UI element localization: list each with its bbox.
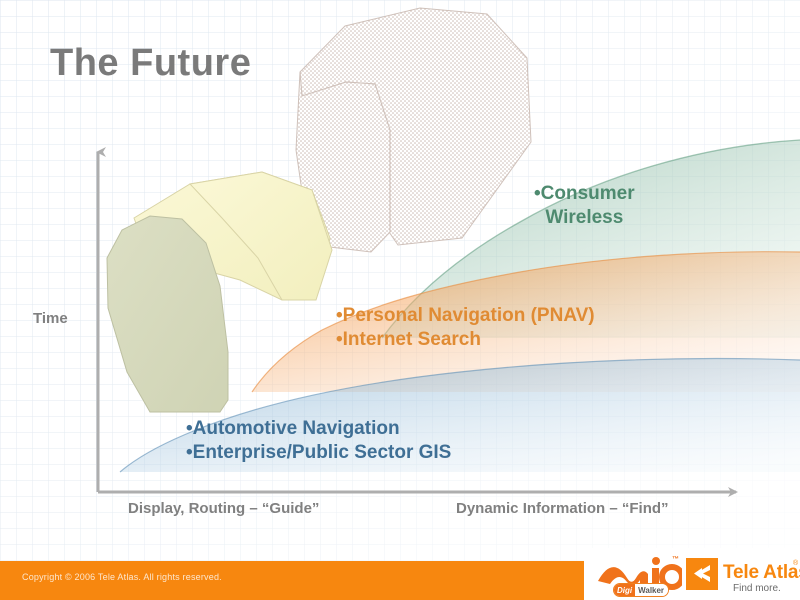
wave-label-pnav: •Personal Navigation (PNAV) •Internet Se… [336, 304, 595, 353]
yellow-polygon-body [190, 172, 332, 300]
wave-label-line: •Enterprise/Public Sector GIS [186, 441, 451, 465]
wave-label-consumer-wireless: •Consumer Wireless [534, 182, 635, 231]
background-grid [0, 0, 800, 600]
wave-label-line: •Consumer [534, 182, 635, 206]
yellow-polygon-shape [134, 172, 330, 300]
wave-label-automotive: •Automotive Navigation •Enterprise/Publi… [186, 417, 451, 466]
tele-atlas-tagline: Find more. [733, 583, 781, 594]
tele-atlas-trademark-icon: ® [793, 560, 798, 567]
slide-canvas: The Future Time Display, Routing – “Guid… [0, 0, 800, 600]
olive-polygon-shape [107, 216, 228, 412]
copyright-text: Copyright © 2006 Tele Atlas. All rights … [22, 572, 222, 582]
wave-label-line: •Internet Search [336, 328, 595, 352]
x-axis-label-left-line1: Display, Routing – [128, 500, 258, 517]
x-axis-label-left: Display, Routing – “Guide” [128, 500, 308, 519]
diagram-shapes [0, 0, 800, 600]
tele-atlas-mark-icon [686, 558, 718, 590]
hatched-polygon-tail [296, 72, 390, 252]
x-axis-label-right: Dynamic Information – “Find” [456, 500, 669, 517]
tele-atlas-wordmark: Tele Atlas [723, 562, 800, 584]
mio-trademark-icon: ™ [672, 556, 679, 563]
mio-digi-label: Digi [614, 584, 635, 596]
page-title: The Future [50, 42, 251, 85]
mio-walker-label: Walker [635, 584, 668, 596]
wave-label-line: •Automotive Navigation [186, 417, 451, 441]
x-axis-label-left-line2: “Guide” [262, 500, 320, 517]
axes [0, 0, 800, 600]
hatched-polygon-shape [300, 8, 531, 245]
wave-label-line: Wireless [534, 206, 635, 230]
mio-digiwalker-badge: Digi Walker [613, 583, 669, 597]
wave-label-line: •Personal Navigation (PNAV) [336, 304, 595, 328]
y-axis-label: Time [33, 310, 68, 327]
